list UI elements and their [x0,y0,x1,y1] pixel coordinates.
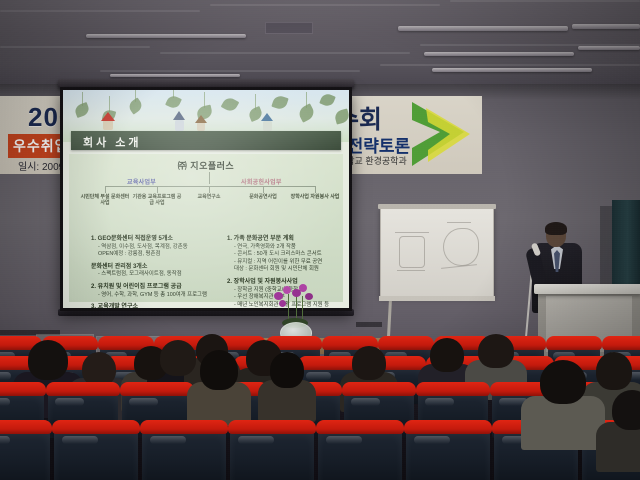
audience-member-head [82,352,116,386]
whiteboard-sketch [443,228,479,266]
auditorium-seat [54,420,138,480]
slide-bullet-heading: 1. GEO문화센터 직접운영 5개소 [91,236,217,244]
slide-body: ㈜ 지오플러스 교육사업부 사회공헌사업부 시민단체 부설 문화센터 사업 기관… [69,153,343,302]
org-group-welfare: 사회공헌사업부 [241,177,282,186]
banner-chevron-logo [406,98,480,172]
auditorium-seat [0,420,50,480]
podium-top [534,284,640,294]
projection-screen: 회사 소개 ㈜ 지오플러스 교육사업부 사회공헌사업부 시민단체 부설 문화센터 [60,87,352,311]
seat-headrest [316,420,404,434]
decor-house [175,120,184,131]
audience-member-head [596,352,632,390]
whiteboard [380,207,494,297]
slide-left-column: 1. GEO문화센터 직접운영 5개소- 역삼점, 이수점, 도사점, 목계점,… [91,236,217,308]
whiteboard-sketch [399,236,425,268]
decor-house-roof [101,112,115,121]
org-chart-root: ㈜ 지오플러스 [69,159,343,172]
event-banner-right: 수회 공전략토론 대학교 환경공학과 [330,96,482,174]
org-node: 문화공연사업 [237,194,289,200]
seat-headrest [120,382,194,396]
seat-highlight [238,436,273,444]
seat-headrest [416,382,490,396]
seat-headrest [52,420,140,434]
presentation-slide: 회사 소개 ㈜ 지오플러스 교육사업부 사회공헌사업부 시민단체 부설 문화센터 [63,90,349,308]
decor-house-roof [261,113,273,121]
seat-headrest [404,420,492,434]
seat-headrest [602,336,640,350]
audience-member-head [160,340,196,376]
audience-member-head [540,360,586,404]
seat-highlight [0,372,11,380]
audience-member-head [28,340,68,380]
org-group-education: 교육사업부 [127,177,156,186]
seat-headrest [228,420,316,434]
wall-trim [356,322,382,327]
speaker-hair [545,222,567,235]
auditorium-seat [230,420,314,480]
seat-highlight [414,436,449,444]
org-node: 교육연구소 [183,194,235,200]
orchid-bloom [305,293,313,300]
seat-headrest [342,382,416,396]
ceiling-light [578,46,640,50]
auditorium-seat [318,420,402,480]
org-node-label: 기관용 교육프로그램 공급 사업 [133,194,182,206]
seat-highlight [351,398,380,406]
slide-bullet-sub: 대상 : 문화센터 회원 및 시민단체 회원 [227,266,349,274]
decor-house-roof [195,115,207,123]
auditorium-seat [406,420,490,480]
ceiling-light [110,74,240,77]
seat-highlight [129,398,158,406]
ceiling-light [432,68,592,72]
seat-highlight [326,436,361,444]
audience-member-head [430,338,464,372]
ceiling-light [86,34,246,38]
seat-highlight [0,436,10,444]
org-node: 장학사업 자원봉사 사업 [289,194,341,200]
orchid-bloom [279,300,286,307]
ceiling-light [398,26,568,31]
orchid-bloom [274,292,283,300]
org-node: 시민단체 부설 문화센터 사업 [79,194,131,206]
whiteboard-sketch-line [447,222,471,223]
slide-bullet-sub: - 영어, 수학, 과학, GYM 등 총 100여개 프로그램 [91,292,217,300]
orchid-bloom [283,286,291,294]
org-node-label: 장학사업 자원봉사 사업 [291,194,340,200]
slide-title-bar: 회사 소개 [71,131,341,150]
slide-bullet-heading: 3. 교육개발 연구소 [91,304,217,308]
seat-headrest [140,420,228,434]
ceiling-light [424,52,574,56]
audience-member-head [200,350,238,390]
seat-headrest [0,382,46,396]
audience-member-head [612,390,640,430]
orchid-bloom [299,284,307,292]
seat-headrest [546,336,602,350]
org-node-label: 시민단체 부설 문화센터 사업 [81,194,130,206]
ceiling-vent [265,22,313,34]
org-node: 기관용 교육프로그램 공급 사업 [131,194,183,206]
whiteboard-sketch-line [395,232,429,233]
whiteboard-marker-tray [379,296,495,301]
seat-highlight [425,398,454,406]
audience-member-head [352,346,386,380]
seat-headrest [378,336,434,350]
seat-highlight [150,436,185,444]
decor-house-roof [173,111,185,120]
seat-headrest [0,420,52,434]
ceiling [0,0,640,86]
decor-house [197,122,205,131]
audience-member-body [521,396,605,450]
seat-highlight [0,398,10,406]
decor-house [103,120,113,130]
slide-bullet-sub: - 스팩트럼점, 모그래사이트점, 동작점 [91,271,217,279]
org-node-label: 교육연구소 [197,194,220,200]
slide-bullet-sub: OPEN예정 : 강릉점, 평촌점 [91,251,217,259]
seat-highlight [62,436,97,444]
photo-scene: 200 우수취업 일시: 2009. 수회 공전략토론 대학교 환경공학과 [0,0,640,480]
whiteboard-top-rail [378,204,496,209]
slide-bullet-heading: 1. 가족 문화공연 부문 계획 [227,236,349,244]
seat-headrest [46,382,120,396]
seat-highlight [306,372,331,380]
org-node-label: 문화공연사업 [249,194,277,200]
audience-member-head [478,334,514,368]
auditorium-seat [142,420,226,480]
audience-member-head [270,352,304,388]
slide-title: 회사 소개 [83,134,142,150]
seat-highlight [55,398,84,406]
ceiling-light [572,24,640,29]
slide-bullet-sub: - 콘서트 : 50개 도시 크리스마스 콘서트 [227,251,349,259]
whiteboard-sketch-line [397,270,425,271]
decor-house [263,121,272,131]
slide-bullet-heading: 2. 유치원 및 어린이집 프로그램 공급 [91,284,217,292]
